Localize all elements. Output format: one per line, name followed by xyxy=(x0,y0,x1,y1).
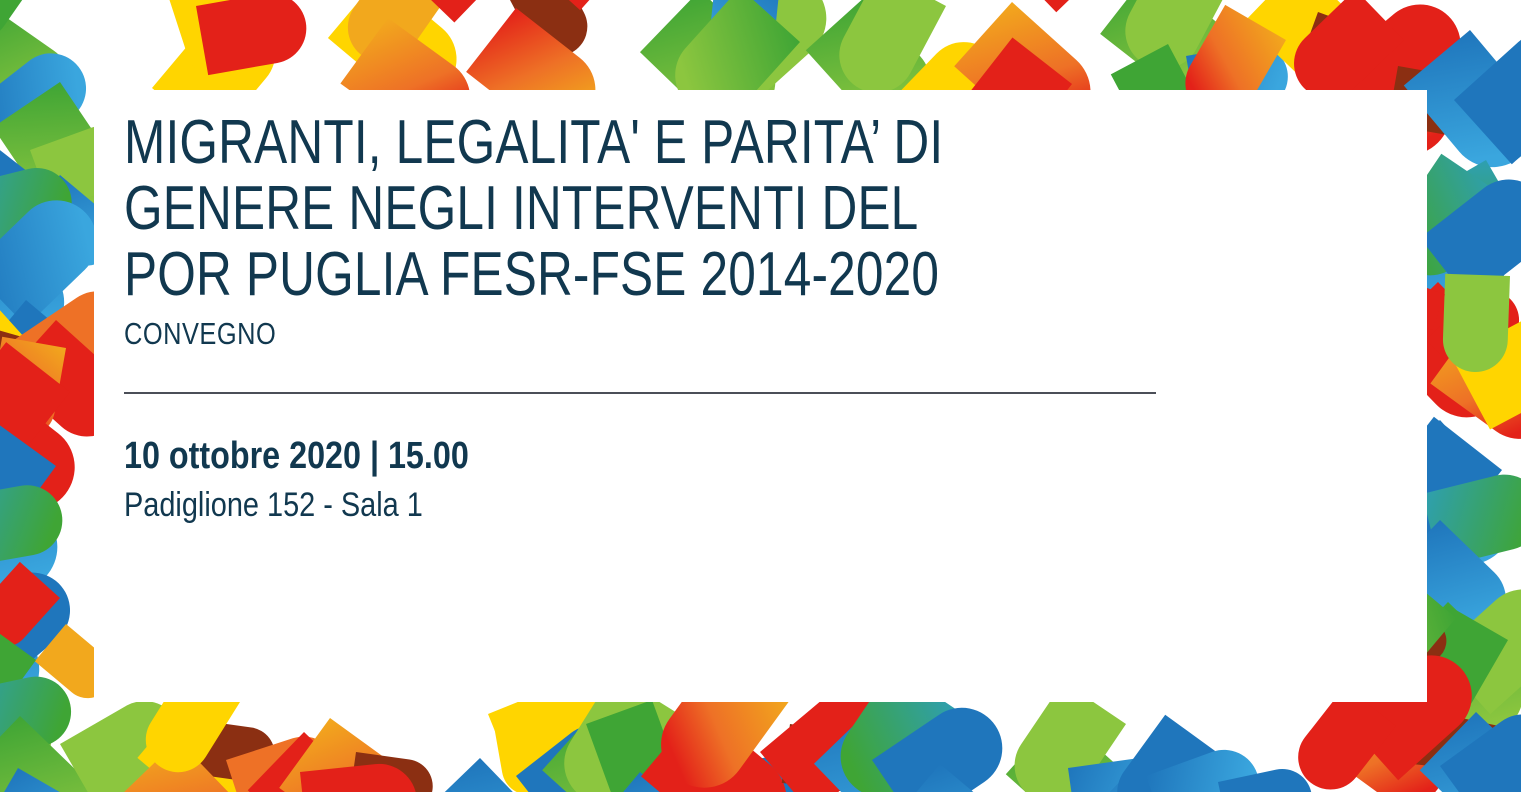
page-title: MIGRANTI, LEGALITA' E PARITA’ DI GENERE … xyxy=(124,110,1184,308)
poster-canvas: MIGRANTI, LEGALITA' E PARITA’ DI GENERE … xyxy=(0,0,1521,792)
poster-text-block: MIGRANTI, LEGALITA' E PARITA’ DI GENERE … xyxy=(124,110,1184,526)
event-kind-label: CONVEGNO xyxy=(124,314,993,354)
event-venue: Padiglione 152 - Sala 1 xyxy=(124,484,1025,526)
title-line-3: POR PUGLIA FESR-FSE 2014-2020 xyxy=(124,242,972,308)
title-line-2: GENERE NEGLI INTERVENTI DEL xyxy=(124,176,972,242)
event-datetime: 10 ottobre 2020 | 15.00 xyxy=(124,434,1025,478)
section-divider xyxy=(124,392,1156,394)
title-line-1: MIGRANTI, LEGALITA' E PARITA’ DI xyxy=(124,110,972,176)
